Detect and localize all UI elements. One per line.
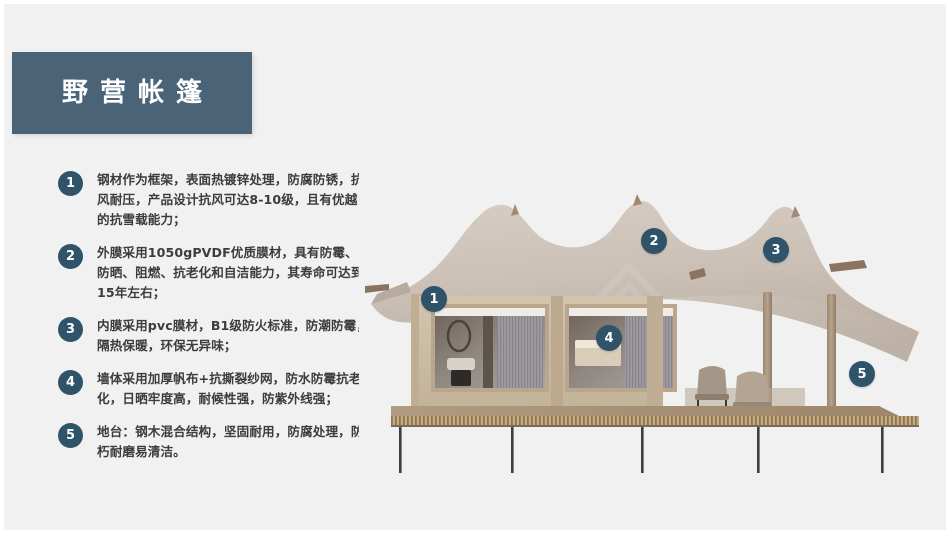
window-valance-left [435,308,545,316]
feature-text-3: 内膜采用pvc膜材，B1级防火标准，防潮防霉，隔热保暖，环保无异味； [97,316,370,356]
feature-text-2: 外膜采用1050gPVDF优质膜材，具有防霉、防晒、阻燃、抗老化和自洁能力，其寿… [97,243,370,303]
feature-badge-1: 1 [58,171,83,196]
feature-badge-4: 4 [58,370,83,395]
interior-shower-column [483,314,493,388]
feature-text-5: 地台：钢木混合结构，坚固耐用，防腐处理，防朽耐磨易清洁。 [97,422,370,462]
interior-cabinet [451,370,471,386]
deck-edge-band [391,416,919,426]
list-item: 5 地台：钢木混合结构，坚固耐用，防腐处理，防朽耐磨易清洁。 [58,422,370,462]
feature-badge-2: 2 [58,244,83,269]
feature-badge-3: 3 [58,317,83,342]
slide-root: 野营帐篷 1 钢材作为框架，表面热镀锌处理，防腐防锈，抗风耐压，产品设计抗风可达… [0,0,950,534]
lounge-chair-left [697,366,727,396]
deck-leg [511,427,514,473]
page-title: 野营帐篷 [50,80,214,106]
cabin-center-post [551,296,563,406]
list-item: 3 内膜采用pvc膜材，B1级防火标准，防潮防霉，隔热保暖，环保无异味； [58,316,370,356]
callout-marker-2[interactable]: 2 [641,228,667,254]
feature-list: 1 钢材作为框架，表面热镀锌处理，防腐防锈，抗风耐压，产品设计抗风可达8-10级… [58,170,370,475]
deck-underline [391,425,919,427]
list-item: 1 钢材作为框架，表面热镀锌处理，防腐防锈，抗风耐压，产品设计抗风可达8-10级… [58,170,370,230]
feature-text-1: 钢材作为框架，表面热镀锌处理，防腐防锈，抗风耐压，产品设计抗风可达8-10级，且… [97,170,370,230]
deck-leg [399,427,402,473]
interior-basin [447,358,475,370]
deck-leg [641,427,644,473]
callout-marker-1[interactable]: 1 [421,286,447,312]
terrace-pole-right [827,294,836,420]
callout-marker-4[interactable]: 4 [596,325,622,351]
callout-marker-5[interactable]: 5 [849,361,875,387]
tent-illustration [359,144,949,474]
deck-leg [757,427,760,473]
deck-leg [881,427,884,473]
lounge-chair-left-seat [695,394,729,400]
feature-text-4: 墙体采用加厚帆布+抗撕裂纱网，防水防霉抗老化，日晒牢度高，耐候性强，防紫外线强； [97,369,370,409]
list-item: 4 墙体采用加厚帆布+抗撕裂纱网，防水防霉抗老化，日晒牢度高，耐候性强，防紫外线… [58,369,370,409]
cabin-wall-right-return [647,296,663,406]
title-banner: 野营帐篷 [12,52,252,134]
list-item: 2 外膜采用1050gPVDF优质膜材，具有防霉、防晒、阻燃、抗老化和自洁能力，… [58,243,370,303]
interior-curtain-left [497,310,543,388]
feature-badge-5: 5 [58,423,83,448]
callout-marker-3[interactable]: 3 [763,237,789,263]
tent-drawing [359,144,949,474]
lounge-chair-right [735,372,768,405]
